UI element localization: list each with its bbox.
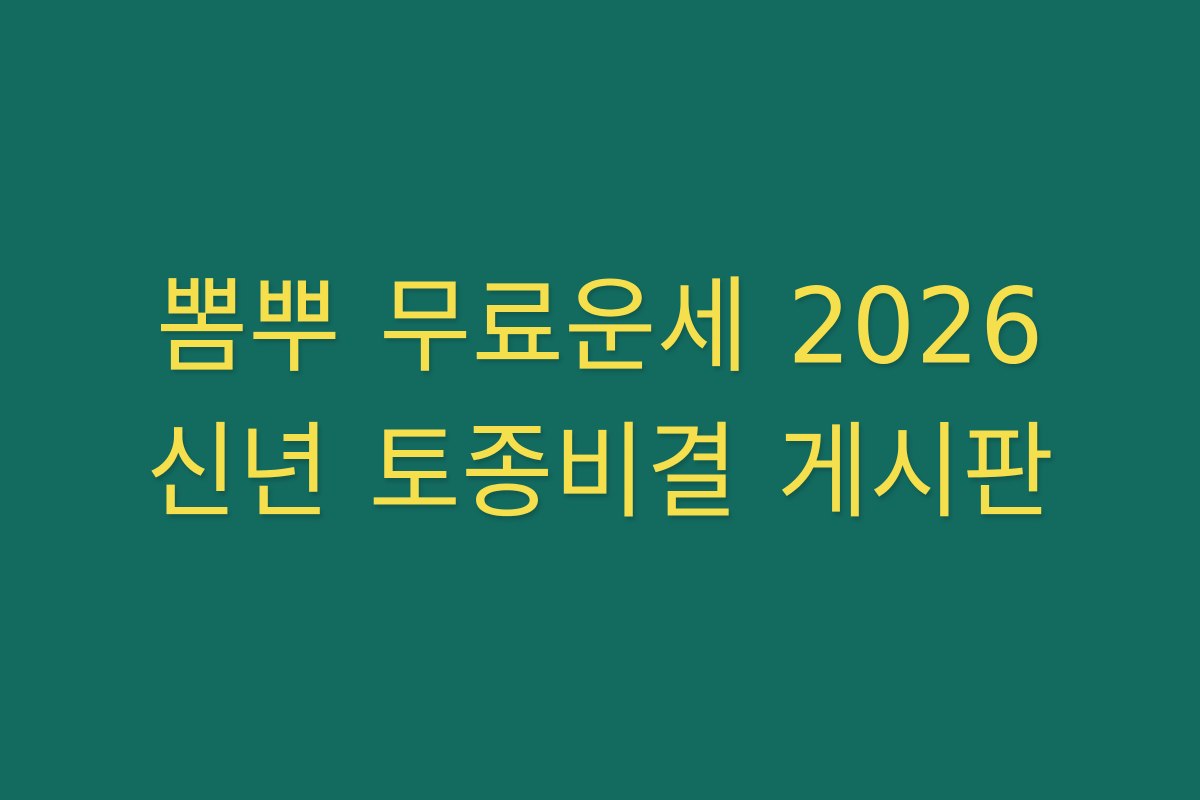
- banner-headline: 뽐뿌 무료운세 2026 신년 토종비결 게시판: [95, 254, 1105, 545]
- banner-canvas: 뽐뿌 무료운세 2026 신년 토종비결 게시판: [0, 0, 1200, 800]
